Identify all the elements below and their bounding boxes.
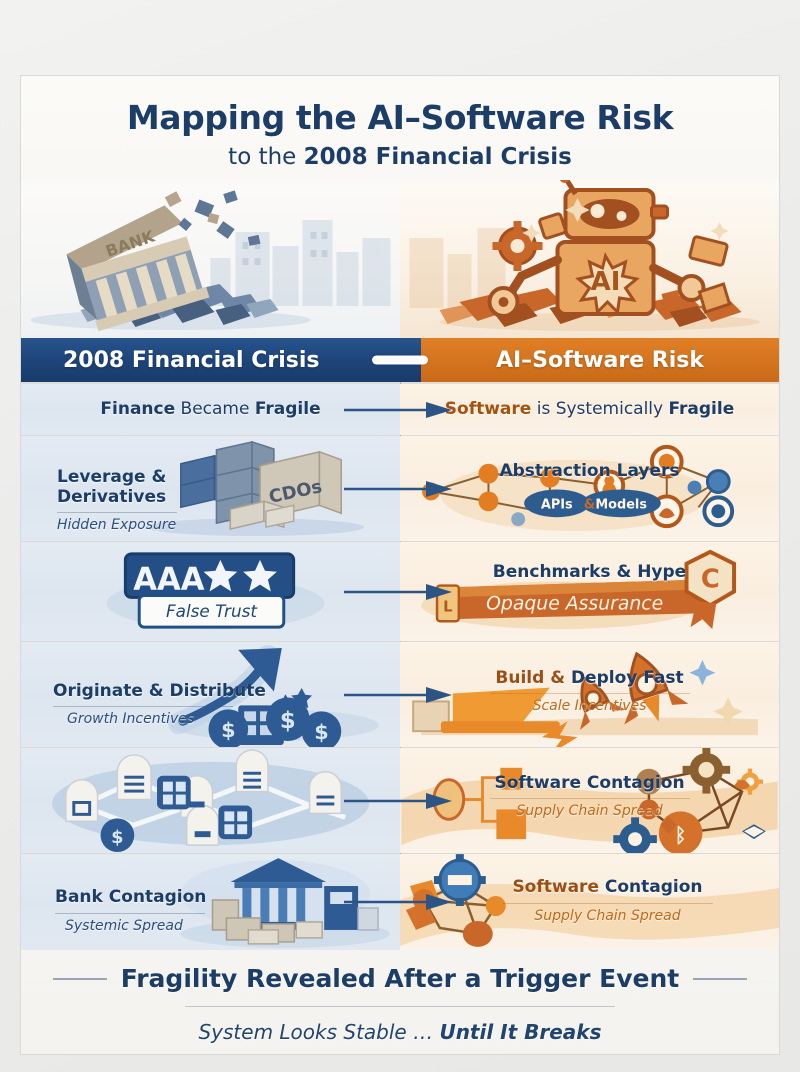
mapping-arrow-icon xyxy=(340,790,460,812)
footer-subline-lead: System Looks Stable … xyxy=(198,1020,439,1044)
mapping-arrow-icon xyxy=(340,478,460,500)
footer-headline-wrap: Fragility Revealed After a Trigger Event xyxy=(53,964,747,993)
row2-left-label: Leverage & Derivatives xyxy=(57,468,177,506)
table-row: AAA False Trust L O xyxy=(21,542,779,642)
footer-rule-top xyxy=(185,1006,615,1007)
row6-right-label-b: Contagion xyxy=(599,877,703,897)
row1-left-label: Finance Became Fragile xyxy=(100,400,320,419)
svg-text:$: $ xyxy=(280,708,296,734)
column-header-right: AI–Software Risk xyxy=(421,338,779,382)
svg-text:False Trust: False Trust xyxy=(166,601,258,621)
row6-left-label: Bank Contagion xyxy=(55,888,206,907)
mapping-arrow-icon xyxy=(340,399,460,421)
footer-subline: System Looks Stable … Until It Breaks xyxy=(21,1020,779,1044)
page-subtitle: to the 2008 Financial Crisis xyxy=(21,144,779,170)
mapping-arrow-icon xyxy=(340,581,460,603)
table-row: CDOs Leverage & Derivatives xyxy=(21,436,779,542)
row4-left-sub: Growth Incentives xyxy=(67,711,266,727)
row1-right-label: Software is Systemically Fragile xyxy=(445,400,734,419)
svg-text:$: $ xyxy=(314,720,328,744)
table-row: Finance Became Fragile Software is Syste… xyxy=(21,384,779,436)
mapping-arrow-icon xyxy=(340,891,460,913)
row5-right-label: Software Contagion xyxy=(490,774,690,793)
row1-left-label-c: Fragile xyxy=(255,399,321,419)
row2-right-label: Abstraction Layers xyxy=(499,462,679,481)
row1-left-label-b: Became xyxy=(175,399,255,419)
table-row: $ $ $ Originate & Distribute Growt xyxy=(21,642,779,748)
svg-text:Opaque Assurance: Opaque Assurance xyxy=(486,593,663,614)
hero-right-robot: AI xyxy=(400,180,779,338)
header-connector-bar xyxy=(372,356,428,365)
svg-text:ᛒ: ᛒ xyxy=(675,824,687,847)
row2-left-sub: Hidden Exposure xyxy=(57,517,177,533)
page-subtitle-bold: 2008 Financial Crisis xyxy=(304,144,572,170)
row6-right-sub: Supply Chain Spread xyxy=(503,908,713,924)
table-row: $ xyxy=(21,748,779,854)
row1-left-label-a: Finance xyxy=(100,399,175,419)
row6-right-label: Software Contagion xyxy=(503,878,713,897)
footer-dash-left xyxy=(53,978,107,980)
page-subtitle-lead: to the xyxy=(228,144,303,170)
row4-right-label-b: Deploy Fast xyxy=(565,668,684,688)
footer-dash-right xyxy=(693,978,747,980)
row4-right-sub: Scale Incentives xyxy=(490,698,690,714)
svg-text:Models: Models xyxy=(595,497,647,512)
svg-text:$: $ xyxy=(111,827,123,848)
hero-left-bank: BANK xyxy=(21,180,400,338)
footer-headline: Fragility Revealed After a Trigger Event xyxy=(121,964,679,993)
bank-collapse-icon: BANK xyxy=(21,180,400,338)
page-title: Mapping the AI–Software Risk xyxy=(21,98,779,137)
svg-text:&: & xyxy=(584,497,595,512)
hero-illustration: BANK xyxy=(21,180,779,338)
row4-right-label: Build & Deploy Fast xyxy=(490,669,690,688)
comparison-headers: 2008 Financial Crisis AI–Software Risk xyxy=(21,338,779,382)
column-header-left: 2008 Financial Crisis xyxy=(21,338,421,382)
comparison-table: 2008 Financial Crisis AI–Software Risk F… xyxy=(21,338,779,950)
row1-right-label-c: Fragile xyxy=(669,399,735,419)
svg-text:C: C xyxy=(701,565,720,595)
row5-right-sub: Supply Chain Spread xyxy=(490,803,690,819)
infographic-frame: Mapping the AI–Software Risk to the 2008… xyxy=(20,75,780,1055)
table-row: Bank Contagion Systemic Spread xyxy=(21,854,779,950)
row4-left-label: Originate & Distribute xyxy=(53,682,266,701)
mapping-arrow-icon xyxy=(340,684,460,706)
title-block: Mapping the AI–Software Risk to the 2008… xyxy=(21,76,779,176)
row1-right-label-b: is Systemically xyxy=(531,399,668,419)
svg-text:AAA: AAA xyxy=(133,563,204,598)
row2-left-label-a: Leverage & xyxy=(57,467,166,487)
svg-text:APIs: APIs xyxy=(541,497,573,512)
row6-left-sub: Systemic Spread xyxy=(65,918,206,934)
svg-text:AI: AI xyxy=(591,267,621,297)
row6-right-label-a: Software xyxy=(512,877,599,897)
row3-right-label: Benchmarks & Hype xyxy=(493,563,686,582)
row2-left-label-b: Derivatives xyxy=(57,487,166,507)
ai-robot-broken-icon: AI xyxy=(400,180,779,338)
footer-block: Fragility Revealed After a Trigger Event… xyxy=(21,950,779,1055)
svg-text:CDOs: CDOs xyxy=(267,476,324,508)
footer-subline-bold: Until It Breaks xyxy=(439,1020,601,1044)
row4-right-label-a: Build & xyxy=(495,668,565,688)
